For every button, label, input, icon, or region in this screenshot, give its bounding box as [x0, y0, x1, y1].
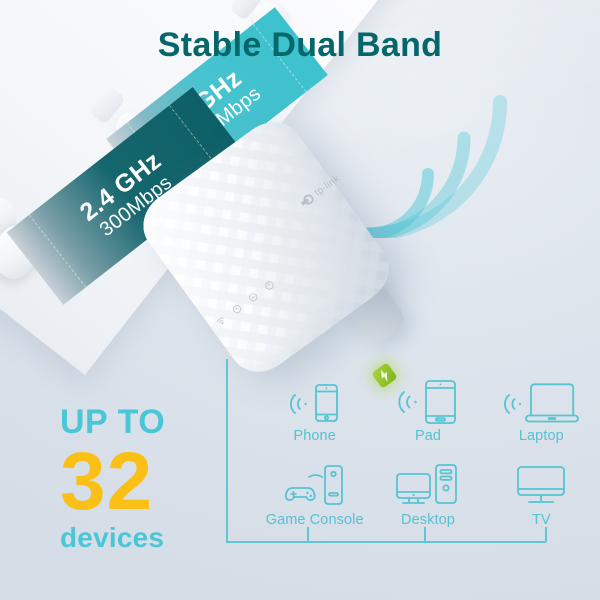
device-item-game-console: Game Console	[258, 462, 371, 528]
router-shading	[131, 110, 401, 385]
router-product-image: tp-link	[150, 138, 400, 368]
marketing-image-canvas: 5 GHz 433Mbps 2.4 GHz 300Mbps tp-link	[0, 0, 600, 600]
device-item-laptop: Laptop	[485, 378, 598, 444]
device-row-primary: Phone Pad	[258, 378, 598, 444]
device-label-pad: Pad	[415, 428, 441, 444]
router-body	[131, 110, 401, 385]
device-label-game-console: Game Console	[266, 512, 364, 528]
capacity-up-to-label: UP TO	[60, 405, 235, 439]
tv-icon	[506, 462, 576, 510]
device-label-phone: Phone	[293, 428, 335, 444]
capacity-block: UP TO 32 devices	[60, 405, 235, 552]
game-console-icon	[279, 462, 351, 510]
device-item-tv: TV	[485, 462, 598, 528]
device-label-desktop: Desktop	[401, 512, 455, 528]
connected-devices-grid: Phone Pad	[258, 378, 598, 538]
laptop-icon	[500, 378, 582, 426]
capacity-count: 32	[60, 443, 235, 522]
device-label-tv: TV	[532, 512, 551, 528]
page-title: Stable Dual Band	[0, 26, 600, 65]
capacity-unit-label: devices	[60, 524, 235, 552]
device-label-laptop: Laptop	[519, 428, 564, 444]
device-item-phone: Phone	[258, 378, 371, 444]
desktop-icon	[391, 462, 465, 510]
device-item-pad: Pad	[371, 378, 484, 444]
phone-icon	[282, 378, 348, 426]
device-row-secondary: Game Console Desktop	[258, 462, 598, 528]
device-item-desktop: Desktop	[371, 462, 484, 528]
tablet-icon	[393, 378, 463, 426]
